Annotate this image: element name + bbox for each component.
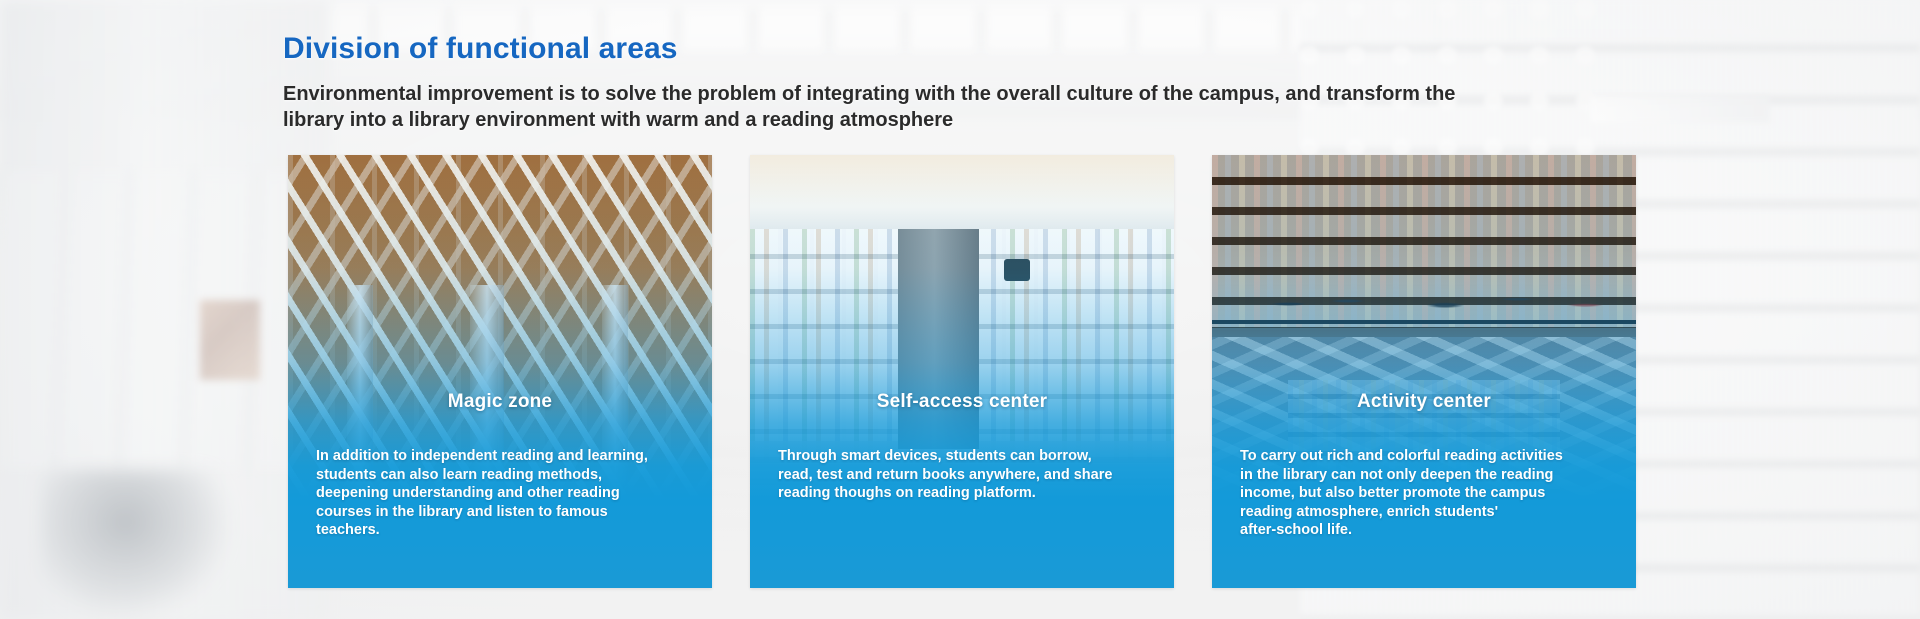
card-body: Self-access center Through smart devices… [750,155,1174,588]
card-description: Through smart devices, students can borr… [778,447,1152,503]
feature-card-list: Magic zone In addition to independent re… [0,155,1920,588]
card-title: Self-access center [750,391,1174,413]
card-title: Magic zone [288,391,712,413]
feature-card[interactable]: Magic zone In addition to independent re… [288,155,712,588]
feature-card[interactable]: Activity center To carry out rich and co… [1212,155,1636,588]
page-subtitle: Environmental improvement is to solve th… [283,82,1483,133]
card-title: Activity center [1212,391,1636,413]
page-title: Division of functional areas [283,32,678,66]
card-description: In addition to independent reading and l… [316,447,690,540]
card-description: To carry out rich and colorful reading a… [1240,447,1614,540]
card-body: Magic zone In addition to independent re… [288,155,712,588]
feature-card[interactable]: Self-access center Through smart devices… [750,155,1174,588]
card-body: Activity center To carry out rich and co… [1212,155,1636,588]
